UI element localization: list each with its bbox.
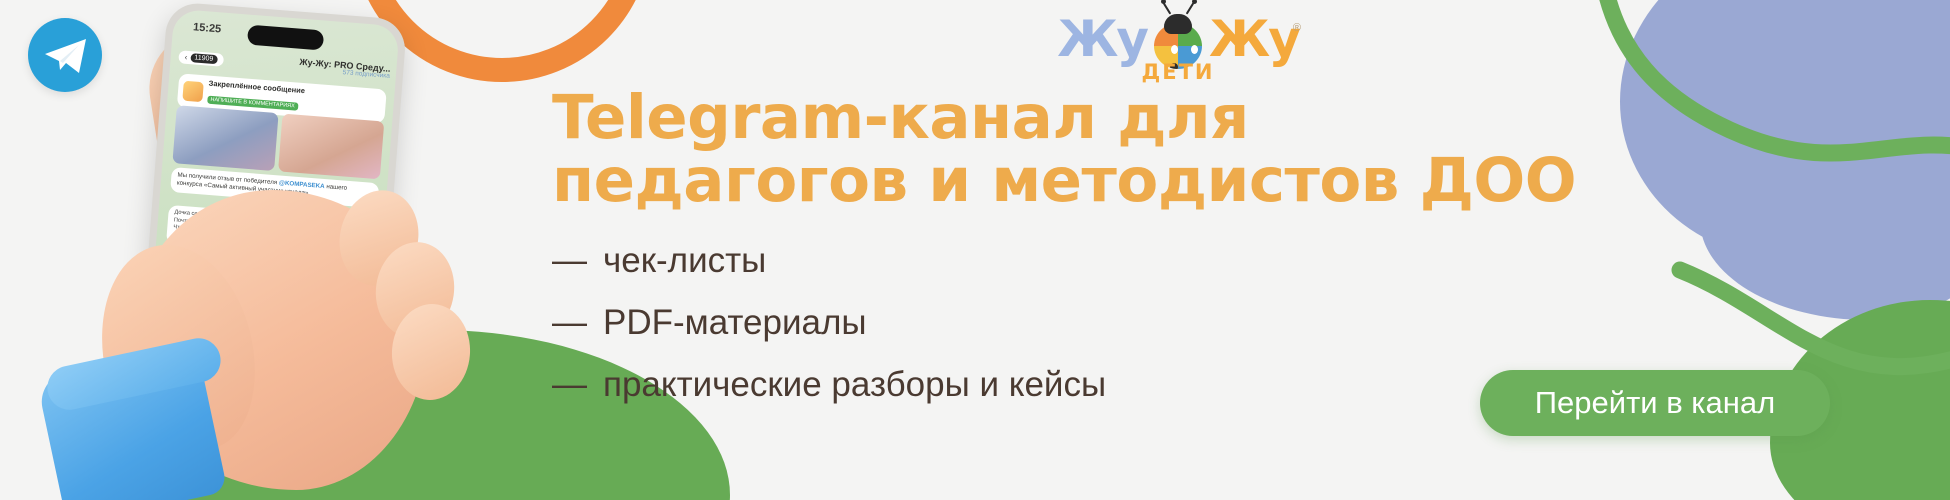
promo-banner: 15:25 ‹ 11909 Жу-Жу: PRO Среду... 573 по… [0, 0, 1950, 500]
ladybug-spot-white [1171, 45, 1178, 54]
hand-holding-phone-illustration: 15:25 ‹ 11909 Жу-Жу: PRO Среду... 573 по… [40, 0, 540, 500]
list-item-label: чек-листы [603, 243, 766, 278]
list-item: — PDF-материалы [552, 305, 1732, 340]
list-item-label: практические разборы и кейсы [603, 367, 1106, 402]
registered-trademark-icon: ® [1293, 22, 1301, 34]
ladybug-antenna-left [1163, 2, 1172, 14]
status-bar-time: 15:25 [193, 21, 222, 35]
brand-word-right: Жу [1209, 14, 1299, 64]
brand-subtitle: ДЕТИ [1053, 60, 1303, 84]
photo-attachment[interactable] [172, 105, 278, 171]
ladybug-antenna-tip-right [1192, 0, 1197, 4]
ladybug-antenna-right [1186, 2, 1195, 14]
ladybug-spot-white [1191, 45, 1198, 54]
unread-count-badge: 11909 [190, 53, 218, 64]
back-button[interactable]: ‹ 11909 [178, 50, 224, 66]
brand-word-left: Жу [1057, 14, 1147, 64]
go-to-channel-button[interactable]: Перейти в канал [1480, 370, 1830, 436]
phone-notch [247, 25, 324, 51]
bullet-dash: — [552, 305, 587, 340]
pinned-thumbnail [182, 81, 204, 103]
chat-title-block: Жу-Жу: PRO Среду... 573 подписчика [228, 52, 391, 81]
list-item-label: PDF-материалы [603, 305, 867, 340]
photo-attachment[interactable] [278, 114, 384, 180]
pinned-label: Закреплённое сообщение [208, 80, 305, 96]
chevron-left-icon: ‹ [184, 52, 187, 61]
bullet-dash: — [552, 367, 587, 402]
headline-line-2: педагогов и методистов ДОО [552, 149, 1732, 212]
list-item: — чек-листы [552, 243, 1732, 278]
blue-blob-right-secondary-decoration [1700, 120, 1950, 320]
headline-line-1: Telegram-канал для [552, 82, 1249, 153]
bullet-dash: — [552, 243, 587, 278]
page-title: Telegram-канал для педагогов и методисто… [552, 86, 1732, 213]
ladybug-head [1164, 14, 1192, 34]
